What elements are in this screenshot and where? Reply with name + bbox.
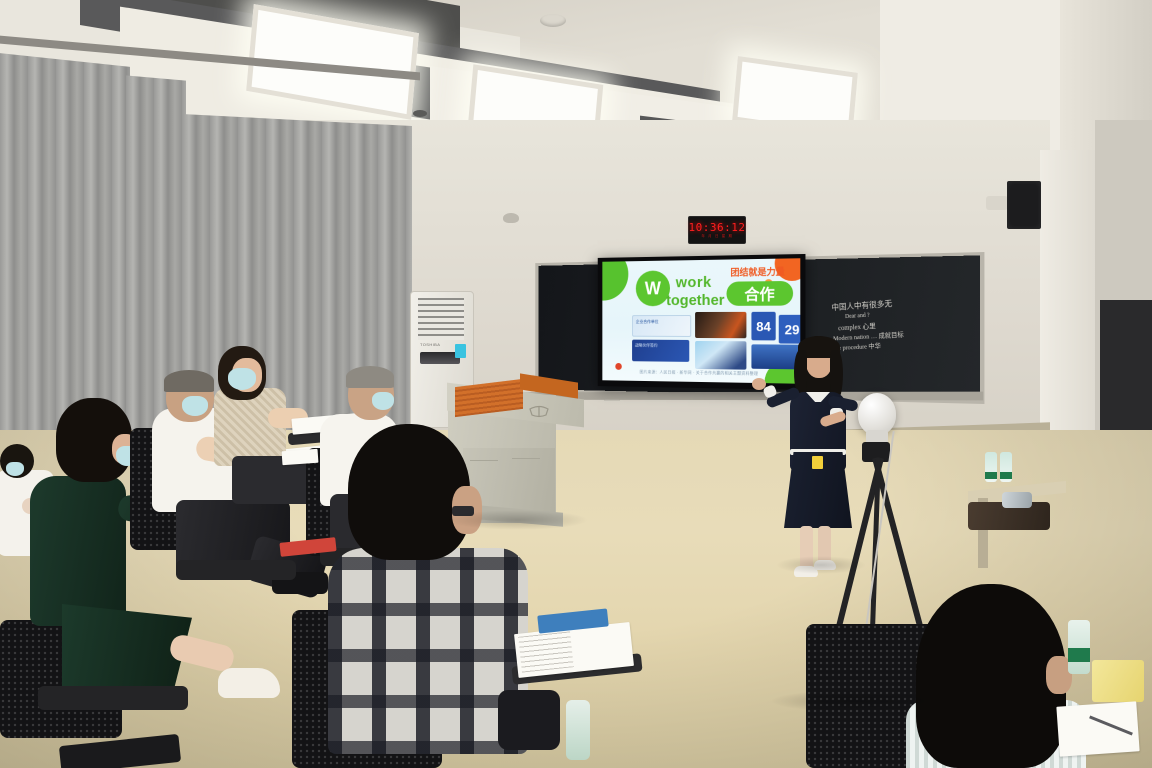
attendee-2-mask-icon [182,396,208,416]
chalkboard-notes: 中国人中有很多无 Dear and ? complex 心里 Modern na… [831,294,961,387]
slide-headline-line2: together [666,292,724,309]
attendee-5-leg [498,690,560,750]
attendee-6-water-bottle[interactable] [1068,620,1090,674]
attendee-7-mask-icon [6,462,24,476]
folded-cloth [1002,492,1032,508]
slide-pill-label: 合作 [726,281,793,306]
attendee-6-bottle-label [1068,648,1090,662]
attendee-5-water-bottle[interactable] [566,700,590,760]
podium-emblem-icon [528,404,550,420]
bottle-label-1 [985,472,997,479]
podium-panel-line-2 [512,458,540,459]
attendee-2-hair [164,370,214,392]
tissue-box[interactable] [1092,660,1144,702]
ceiling-sensor-icon [413,110,427,117]
presenter-name-badge [812,456,823,469]
presenter-shadow [776,556,866,574]
speaker-mount [986,196,1008,210]
attendee-5-hair [348,424,470,560]
slide-card-logo-2: 战略伙伴签约 [632,340,689,362]
security-camera-icon [503,213,519,223]
slide-decor-green-large [602,258,628,301]
bottle-label-2 [1000,472,1012,479]
attendee-1-shoe [218,668,280,698]
slide-photo-car [695,312,746,338]
slide-decor-red-small [615,363,622,370]
slide-caption: 图片来源：人民日报 · 新华网 · 关于合作共赢的相关主题资料整理 [640,369,767,377]
podium-shadow [448,510,588,530]
presentation-slide[interactable]: W 团结就是力量 work together 合作 企业合作单位 战略伙伴签约 … [602,258,800,384]
slide-card-2-text: 战略伙伴签约 [632,340,689,352]
presenter-left-hand [752,378,766,390]
slide-photo-team [695,341,746,370]
attendee-1-chair-seat[interactable] [38,686,188,710]
slide-stat-1: 84 [751,312,775,341]
attendee-5-notebook-lines [518,631,573,672]
air-conditioner-display [420,352,460,364]
slide-headline-line1: work [676,274,712,291]
classroom-photo-scene: 10:36:12 年 月 日 星 期 中国人中有很多无 Dear and ? c… [0,0,1152,768]
led-clock-time: 10:36:12 [689,221,746,234]
attendee-4-hair [346,366,394,388]
attendee-2-chair-seat[interactable] [176,560,296,580]
air-conditioner-grille [418,298,464,340]
air-conditioner-brand: TOSHIBA [420,342,440,347]
chalk-tray [524,392,983,401]
slide-photo-crowd [751,344,800,369]
smoke-detector-icon [540,14,566,27]
wall-speaker-icon [1007,181,1041,229]
slide-card-logo-1: 企业合作单位 [632,315,691,337]
air-conditioner-badge [455,344,466,358]
attendee-6-documents[interactable] [1056,701,1139,756]
attendee-4-mask-icon [372,392,394,410]
led-clock: 10:36:12 年 月 日 星 期 [688,216,746,244]
spherical-camera-icon [858,393,896,435]
attendee-6-hair [916,584,1066,768]
led-clock-sublabel: 年 月 日 星 期 [701,234,732,239]
slide-orange-heading: 团结就是力量 [730,265,784,279]
attendee-3-mask-icon [228,368,256,390]
slide-stat-2: 29 [779,315,801,344]
attendee-4-documents[interactable] [282,449,319,465]
attendee-1-torso [30,476,126,626]
podium-panel-line-1 [470,460,498,461]
slide-badge-letter: W [636,270,670,306]
tripod-shadow [770,690,940,712]
slide-card-1-text: 企业合作单位 [633,316,690,328]
